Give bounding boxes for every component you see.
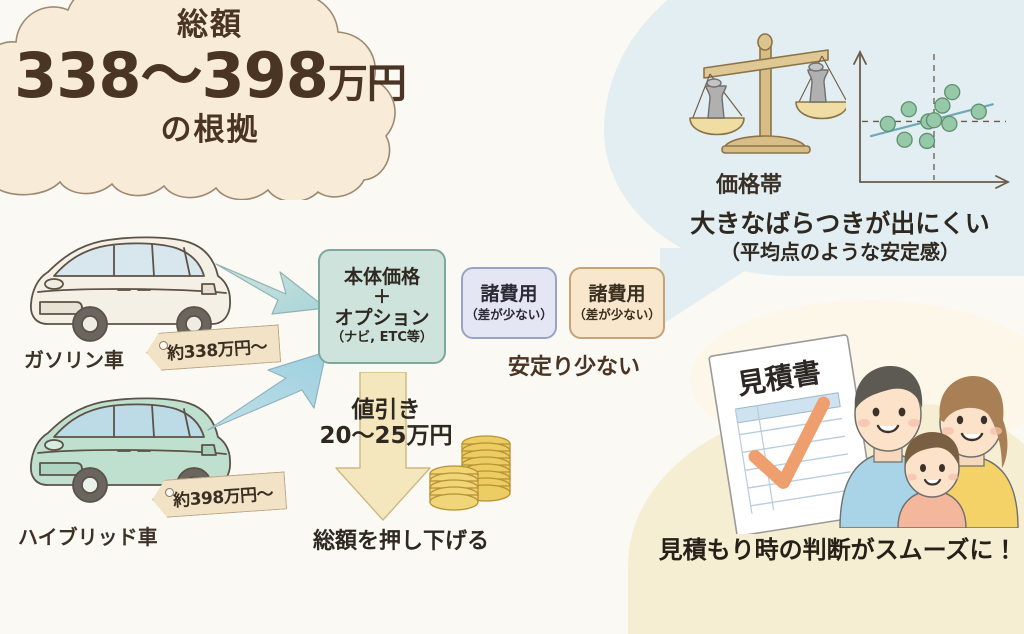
fee-box-1-note: （差が少ない） xyxy=(465,307,553,322)
page-title: 総額 338〜398万円 の根拠 xyxy=(0,10,420,146)
main-box-line3: オプション xyxy=(334,308,429,329)
family-illustration xyxy=(832,328,1022,528)
child-figure xyxy=(898,432,966,528)
coin-stack-icon xyxy=(424,424,520,520)
scatter-point-7 xyxy=(942,116,957,131)
discount-line1: 値引き xyxy=(316,398,456,424)
scale-label: 価格帯 xyxy=(716,167,782,199)
main-box-line1: 本体価格 xyxy=(344,267,420,288)
main-box-line4: （ナビ, ETC等） xyxy=(331,330,433,346)
main-price-box[interactable]: 本体価格 ＋ オプション （ナビ, ETC等） xyxy=(318,249,446,364)
title-amount-unit: 万円 xyxy=(328,61,406,107)
title-sub: の根拠 xyxy=(0,115,420,146)
yellow-panel-caption: 見積もり時の判断がスムーズに！ xyxy=(648,530,1024,565)
blue-panel-caption-main: 大きなばらつきが出にくい xyxy=(660,204,1020,240)
scatter-point-0 xyxy=(880,116,895,131)
hybrid-car-label: ハイブリッド車 xyxy=(18,521,158,550)
title-amount: 338〜398 xyxy=(14,39,328,112)
scatter-point-1 xyxy=(901,102,916,117)
title-eyebrow: 総額 xyxy=(0,10,420,41)
scatter-point-5 xyxy=(935,98,950,113)
fee-box-1[interactable]: 諸費用 （差が少ない） xyxy=(461,267,557,339)
title-amount-line: 338〜398万円 xyxy=(0,45,420,107)
scatter-point-2 xyxy=(897,132,912,147)
fee-box-2[interactable]: 諸費用 （差が少ない） xyxy=(569,267,665,339)
fee-box-2-note: （差が少ない） xyxy=(573,307,661,322)
stable-text: 安定り少ない xyxy=(489,349,659,381)
main-box-plus: ＋ xyxy=(373,288,391,308)
blue-panel-caption-sub: （平均点のような安定感） xyxy=(660,236,1020,265)
fee-box-1-title: 諸費用 xyxy=(480,284,537,305)
scatter-point-3 xyxy=(920,133,935,148)
fee-box-2-title: 諸費用 xyxy=(588,284,645,305)
scatter-point-9 xyxy=(927,113,942,128)
gasoline-car-label: ガソリン車 xyxy=(24,344,124,373)
scatter-chart xyxy=(846,42,1018,194)
balance-scale-icon xyxy=(686,28,846,173)
scatter-point-8 xyxy=(971,104,986,119)
scatter-point-6 xyxy=(945,85,960,100)
discount-result-text: 総額を押し下げる xyxy=(296,523,506,555)
infographic-canvas: 総額 338〜398万円 の根拠 xyxy=(0,0,1024,576)
